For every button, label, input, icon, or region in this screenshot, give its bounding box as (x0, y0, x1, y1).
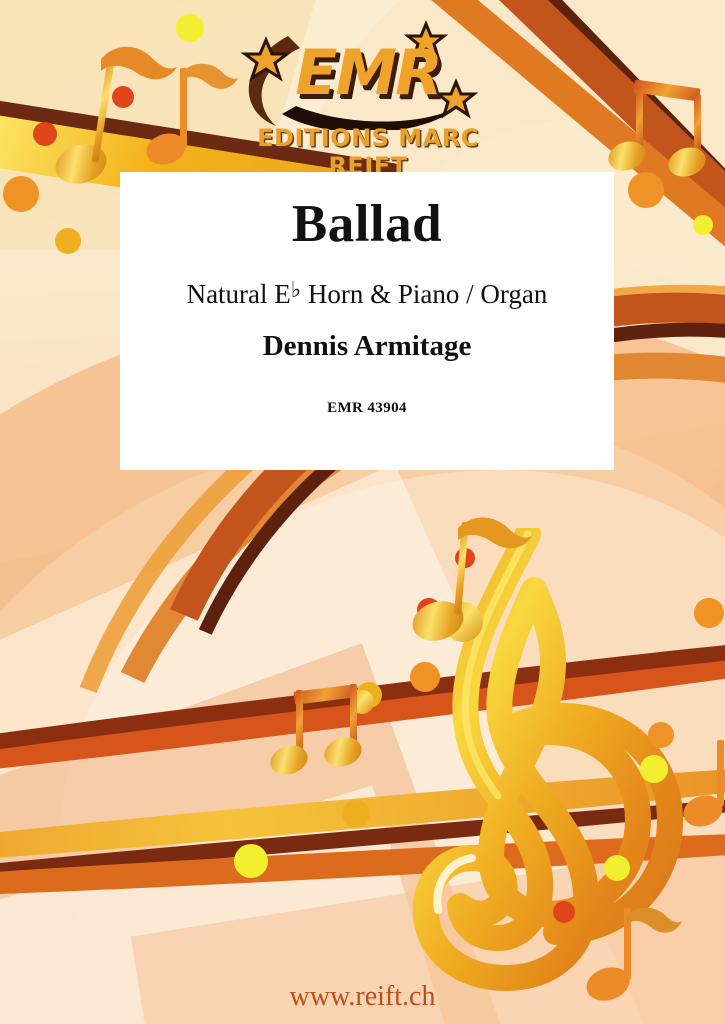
emr-logo: EMR EDITIONS MARC REIFT (238, 14, 498, 164)
sheet-music-cover: EMR EDITIONS MARC REIFT Ballad Natural E… (0, 0, 725, 1024)
publisher-website[interactable]: www.reift.ch (0, 981, 725, 1013)
decor-dot (604, 855, 630, 881)
decor-dot (234, 844, 268, 878)
catalog-number: EMR 43904 (120, 400, 614, 417)
page-title: Ballad (120, 194, 614, 254)
instrumentation-suffix: Horn & Piano / Organ (301, 279, 547, 309)
decor-dot (553, 901, 575, 923)
composer-name: Dennis Armitage (120, 330, 614, 363)
decor-dot (640, 755, 668, 783)
title-panel: Ballad Natural E♭ Horn & Piano / Organ D… (120, 172, 614, 470)
decor-dot (3, 176, 39, 212)
decor-dot (648, 722, 674, 748)
decor-dot (112, 86, 134, 108)
flat-symbol: ♭ (291, 277, 301, 302)
decor-dot (342, 800, 370, 828)
decor-dot (628, 172, 664, 208)
decor-dot (694, 598, 724, 628)
decor-dot (176, 14, 204, 42)
decor-dot (693, 215, 713, 235)
decor-dot (55, 228, 81, 254)
decor-dot (33, 122, 57, 146)
instrumentation: Natural E♭ Horn & Piano / Organ (120, 277, 614, 310)
emr-logo-text: EMR (238, 36, 498, 109)
decor-dot (410, 662, 440, 692)
instrumentation-prefix: Natural E (187, 279, 291, 309)
